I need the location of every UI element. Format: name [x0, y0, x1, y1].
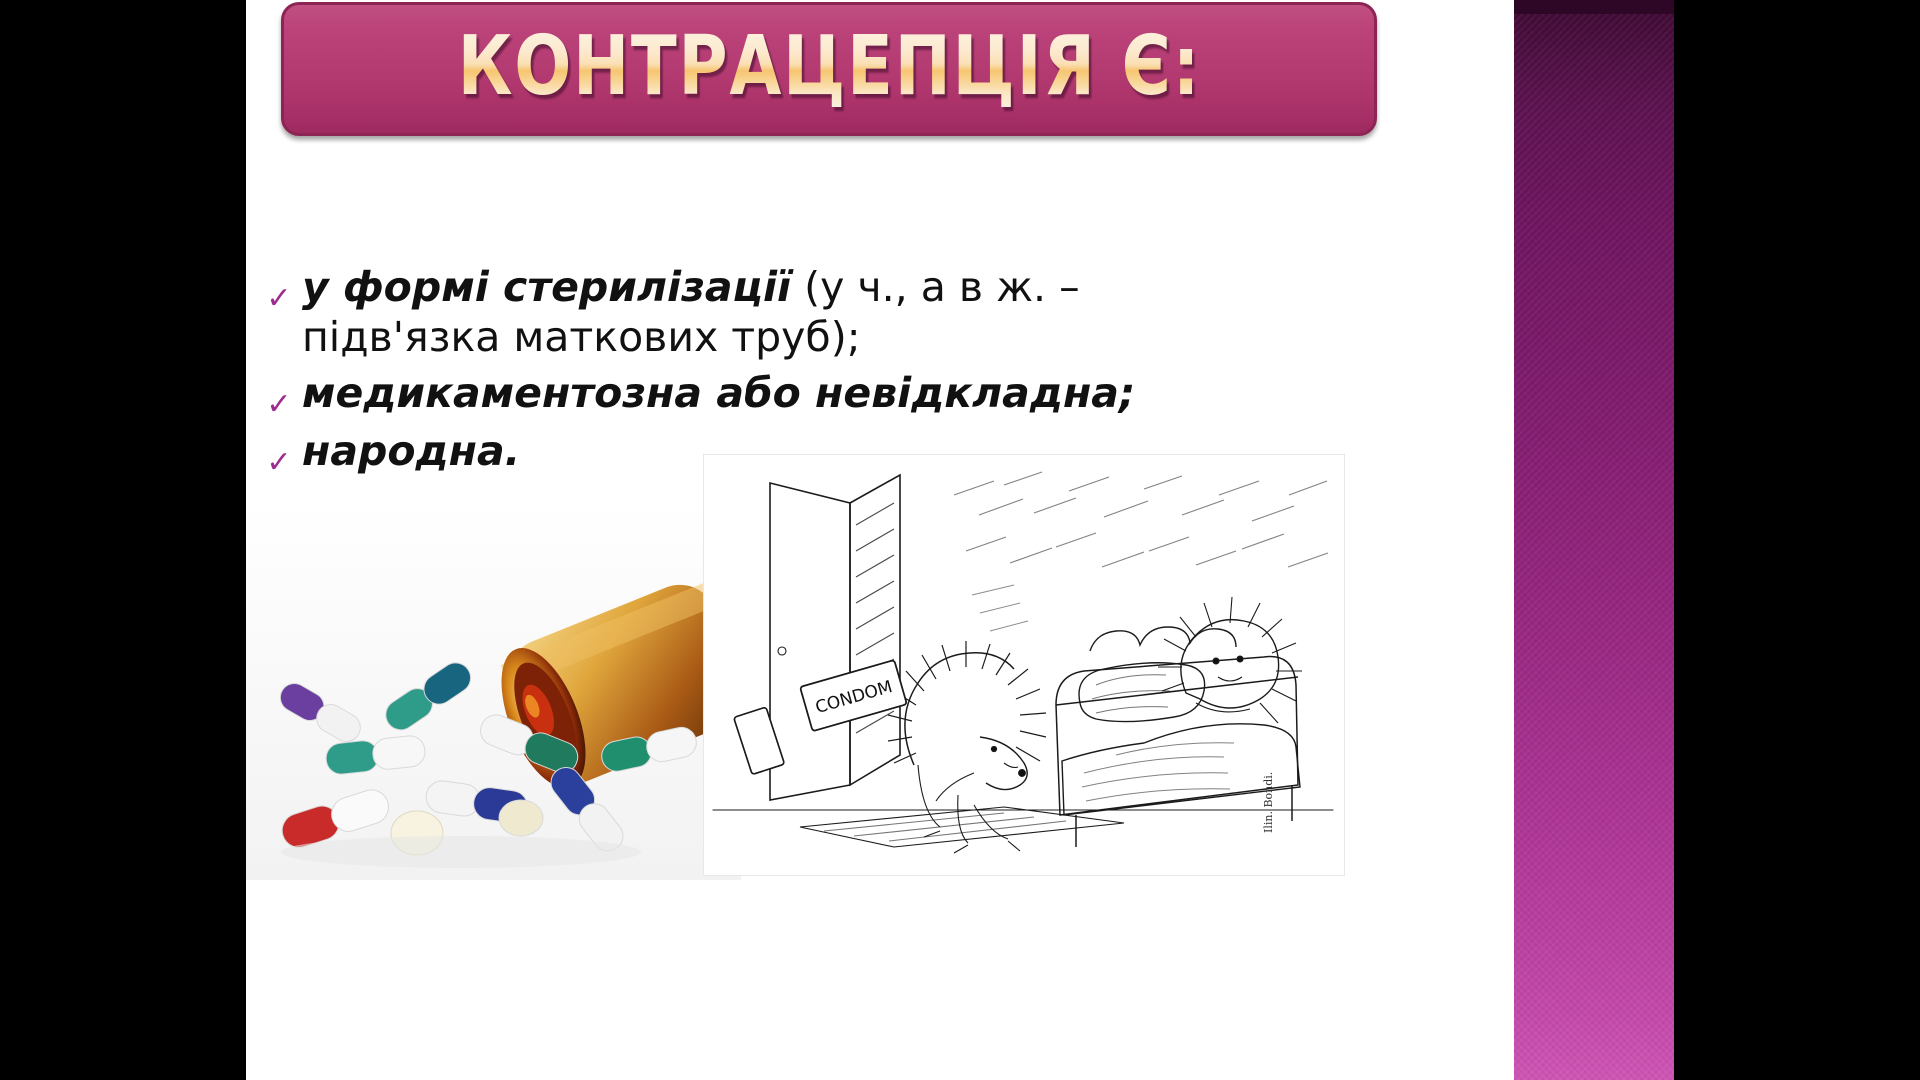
- list-item: ✓ медикаментозна або невідкладна;: [266, 368, 1346, 420]
- list-item-text: у формі стерилізації (у ч., а в ж. – під…: [302, 262, 1346, 362]
- page-title: КОНТРАЦЕПЦІЯ Є:: [457, 26, 1201, 112]
- list-item-text: медикаментозна або невідкладна;: [302, 368, 1346, 418]
- accent-strip: [1514, 0, 1674, 1080]
- title-bar: КОНТРАЦЕПЦІЯ Є:: [281, 2, 1377, 136]
- hedgehog-cartoon: CONDOM: [704, 455, 1344, 875]
- list-item-emphasis: у формі стерилізації: [302, 263, 791, 311]
- list-item-emphasis: народна.: [302, 427, 520, 475]
- accent-strip-cap: [1514, 0, 1674, 14]
- slide-canvas: КОНТРАЦЕПЦІЯ Є: ✓ у формі стерилізації (…: [246, 0, 1674, 1080]
- list-item-second-line: підв'язка маткових труб);: [302, 313, 861, 361]
- cartoon-signature: Ilin. Bondi.: [1262, 772, 1275, 833]
- check-icon: ✓: [266, 448, 292, 478]
- list-item-emphasis: медикаментозна або невідкладна;: [302, 369, 1135, 417]
- pills-photo-graphic: [246, 500, 741, 880]
- slide-stage: КОНТРАЦЕПЦІЯ Є: ✓ у формі стерилізації (…: [0, 0, 1920, 1080]
- cartoon-frame: CONDOM: [704, 455, 1344, 875]
- check-icon: ✓: [266, 284, 292, 314]
- hedgehog-cartoon-graphic: CONDOM: [704, 455, 1344, 875]
- list-item: ✓ у формі стерилізації (у ч., а в ж. – п…: [266, 262, 1346, 362]
- bullet-list: ✓ у формі стерилізації (у ч., а в ж. – п…: [266, 262, 1346, 484]
- list-item-rest: (у ч., а в ж. –: [791, 263, 1080, 311]
- pills-photo: [246, 500, 741, 880]
- check-icon: ✓: [266, 390, 292, 420]
